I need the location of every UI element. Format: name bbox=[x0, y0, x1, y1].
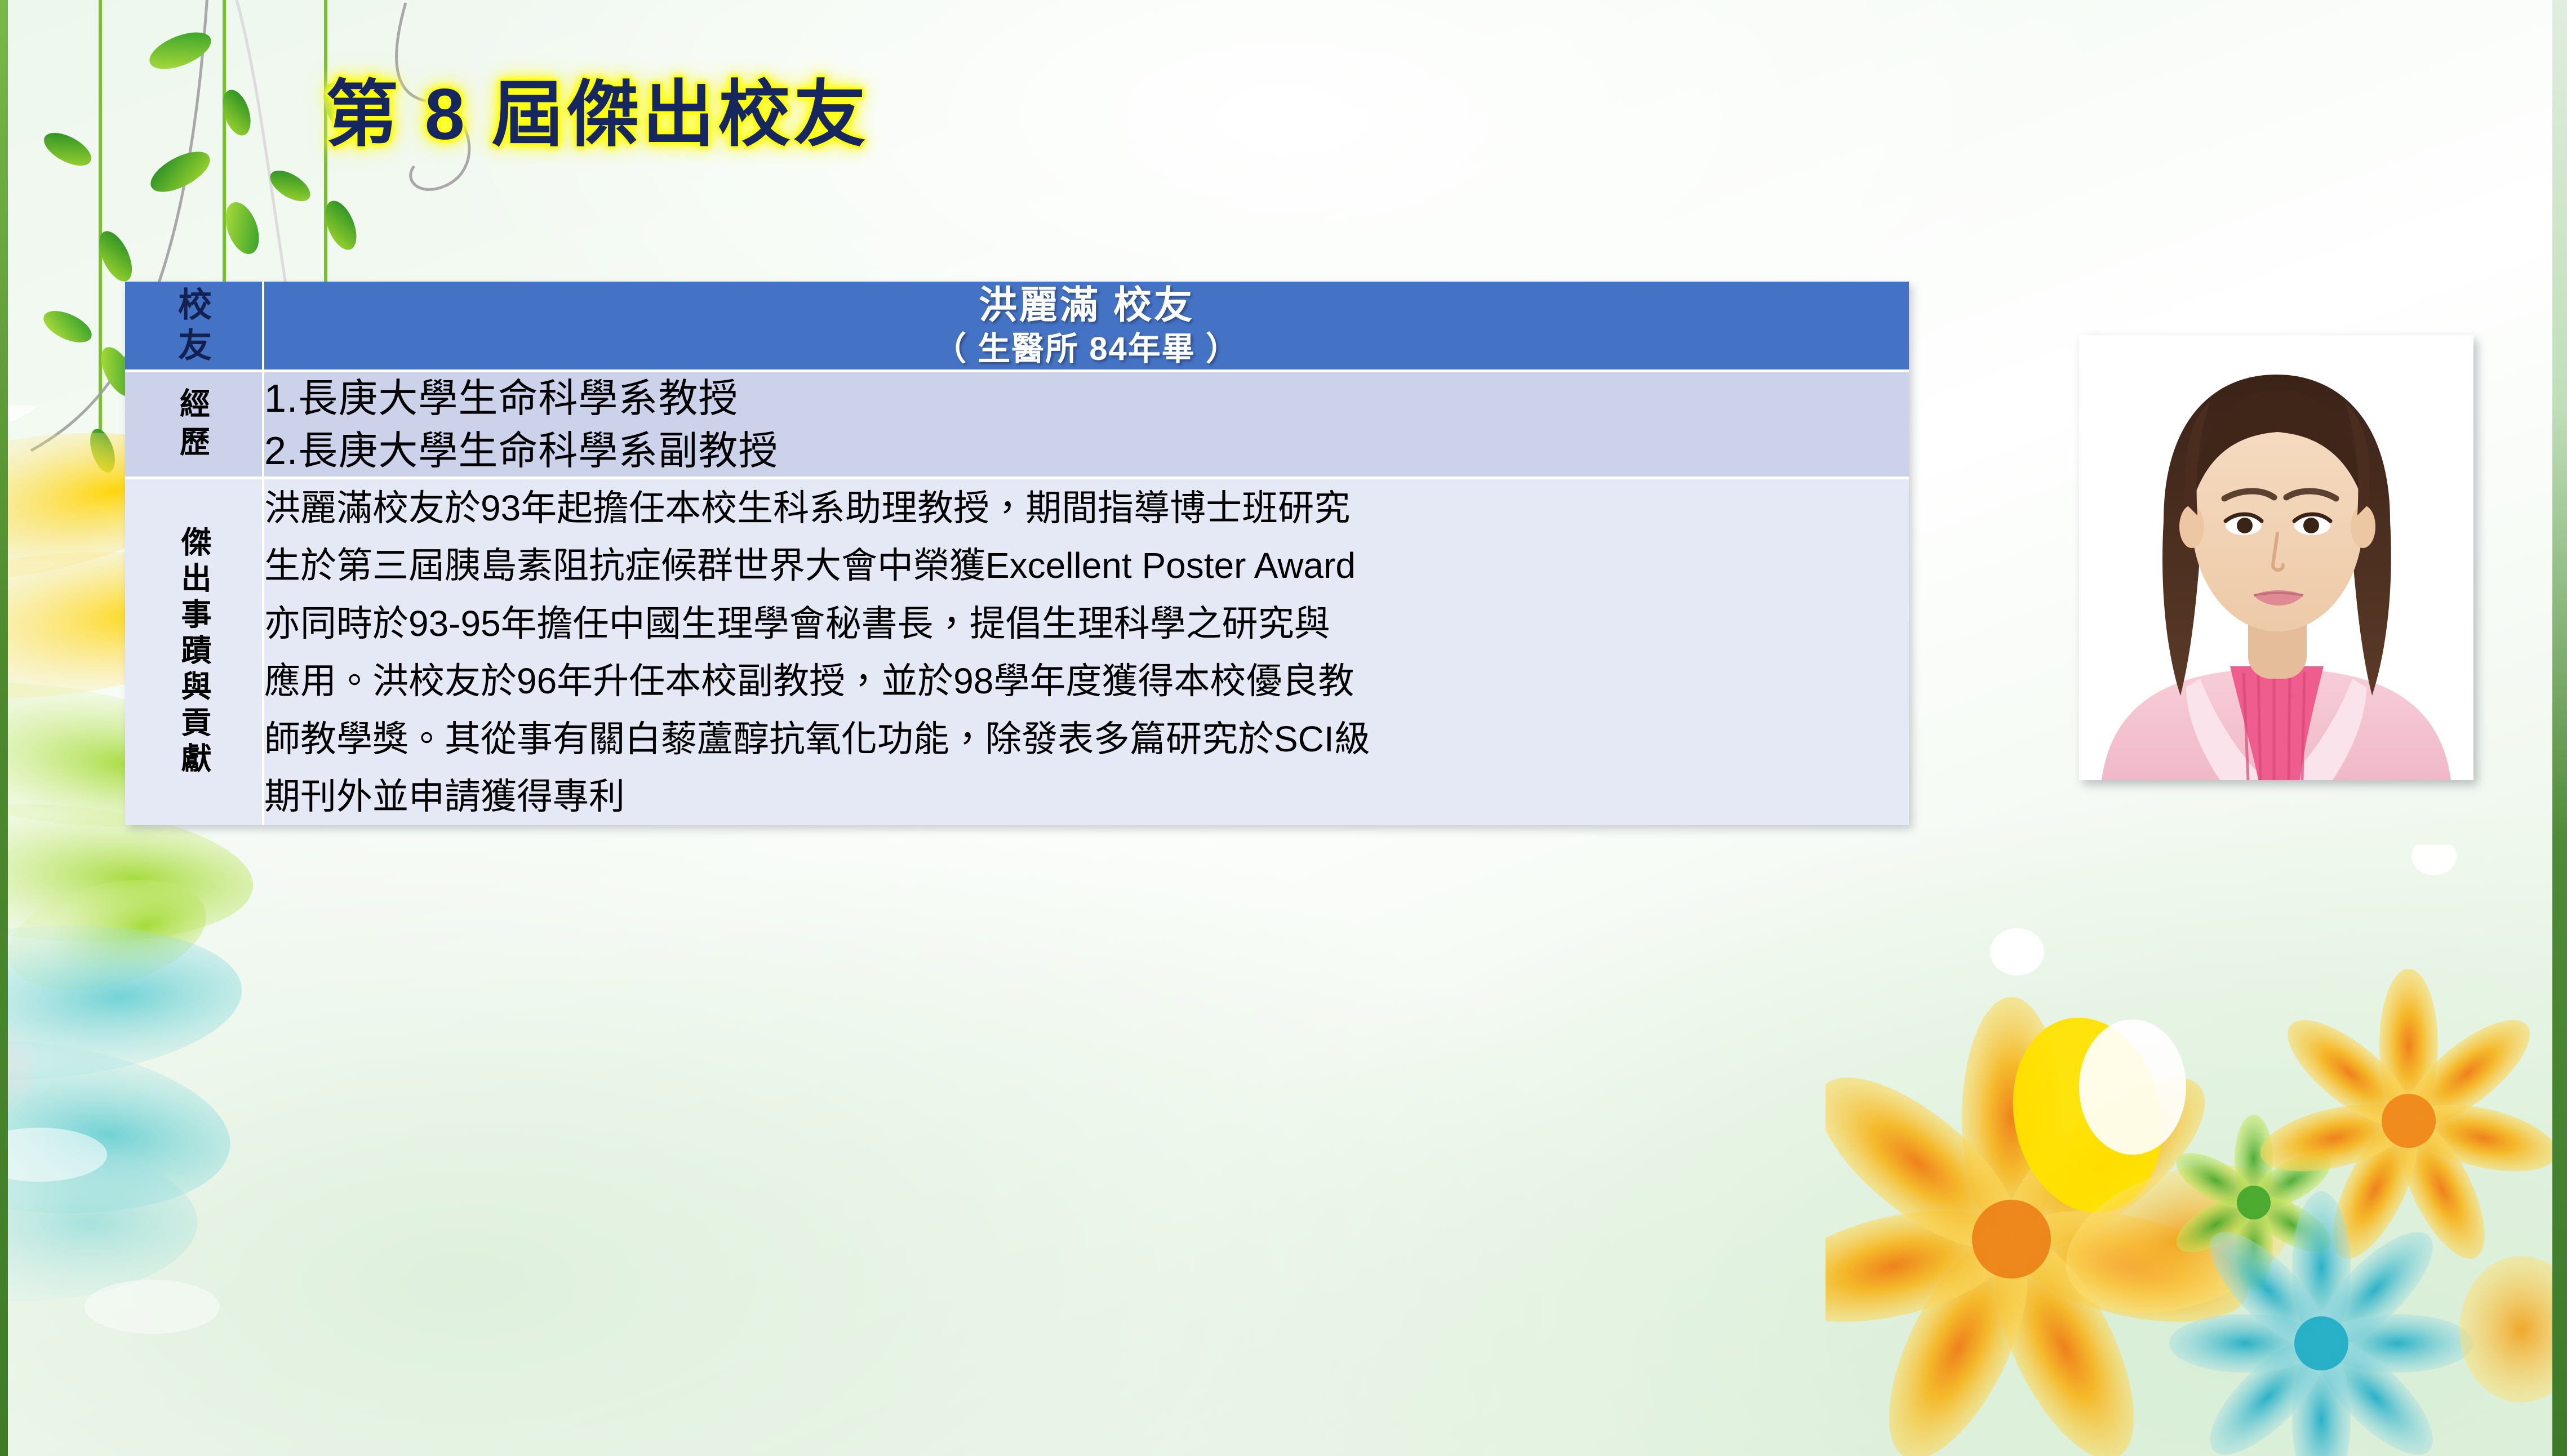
row-label-experience: 經歷 bbox=[125, 372, 262, 479]
experience-item: 2.長庚大學生命科學系副教授 bbox=[264, 425, 1909, 477]
alumni-portrait-photo bbox=[2079, 335, 2473, 780]
achievement-line: 期刊外並申請獲得專利 bbox=[264, 768, 1909, 825]
table-row-alumni-header: 校友 洪麗滿 校友 （ 生醫所 84年畢 ） bbox=[125, 282, 1909, 372]
left-green-edge bbox=[0, 0, 8, 1456]
alumni-info-table: 校友 洪麗滿 校友 （ 生醫所 84年畢 ） 經歷 1.長庚大學生命科學系教授 … bbox=[125, 282, 1909, 825]
experience-item: 1.長庚大學生命科學系教授 bbox=[264, 372, 1909, 424]
experience-cell: 1.長庚大學生命科學系教授 2.長庚大學生命科學系副教授 bbox=[262, 372, 1909, 479]
alumni-header-cell: 洪麗滿 校友 （ 生醫所 84年畢 ） bbox=[262, 282, 1909, 372]
slide-canvas: 第 8 屆傑出校友 校友 洪麗滿 校友 （ 生醫所 84年畢 ） 經歷 1.長庚… bbox=[0, 0, 2567, 1456]
alumni-name: 洪麗滿 校友 bbox=[264, 282, 1909, 329]
flower-cluster-decor bbox=[1826, 845, 2567, 1456]
portrait-illustration bbox=[2079, 335, 2473, 780]
achievement-line: 生於第三屆胰島素阻抗症候群世界大會中榮獲Excellent Poster Awa… bbox=[264, 537, 1909, 594]
table-row-achievements: 傑出事蹟與貢獻 洪麗滿校友於93年起擔任本校生科系助理教授，期間指導博士班研究 … bbox=[125, 479, 1909, 825]
achievement-line: 師教學獎。其從事有關白藜蘆醇抗氧化功能，除發表多篇研究於SCI級 bbox=[264, 710, 1909, 768]
achievements-cell: 洪麗滿校友於93年起擔任本校生科系助理教授，期間指導博士班研究 生於第三屆胰島素… bbox=[262, 479, 1909, 825]
page-title: 第 8 屆傑出校友 bbox=[326, 79, 869, 151]
achievement-line: 洪麗滿校友於93年起擔任本校生科系助理教授，期間指導博士班研究 bbox=[264, 479, 1909, 537]
achievement-line: 應用。洪校友於96年升任本校副教授，並於98學年度獲得本校優良教 bbox=[264, 652, 1909, 710]
row-label-achievements: 傑出事蹟與貢獻 bbox=[125, 479, 262, 825]
achievement-line: 亦同時於93-95年擔任中國生理學會秘書長，提倡生理科學之研究與 bbox=[264, 595, 1909, 652]
table-row-experience: 經歷 1.長庚大學生命科學系教授 2.長庚大學生命科學系副教授 bbox=[125, 372, 1909, 479]
alumni-department-year: （ 生醫所 84年畢 ） bbox=[264, 329, 1909, 369]
right-green-edge bbox=[2552, 0, 2567, 1456]
row-label-alumni: 校友 bbox=[125, 282, 262, 372]
